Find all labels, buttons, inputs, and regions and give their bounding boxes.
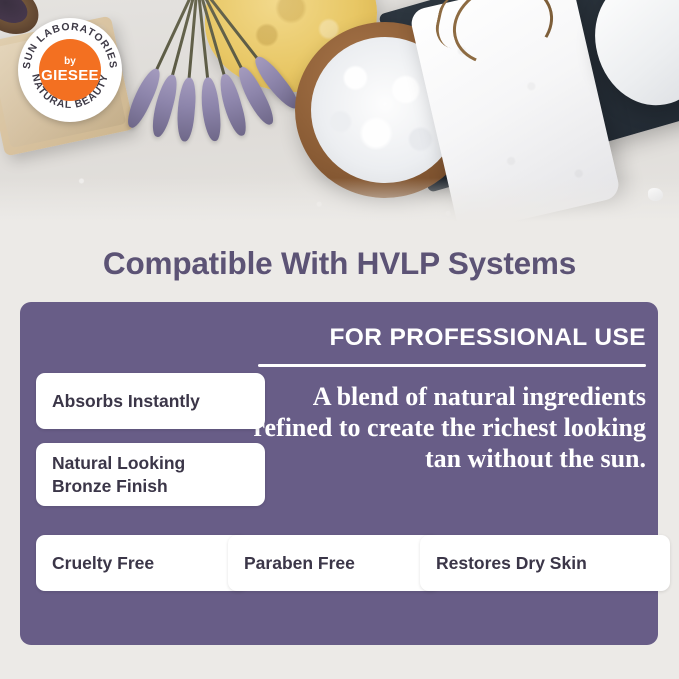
trademark-symbol: ™: [103, 64, 108, 69]
feature-pill-natural-looking-bronze-finish[interactable]: Natural Looking Bronze Finish: [36, 443, 265, 506]
feature-pill-label: Absorbs Instantly: [52, 390, 200, 412]
logo-brand-text: GIESEE: [41, 67, 99, 84]
logo-inner-circle: by GIESEE ™: [39, 39, 101, 101]
feature-pill-label: Cruelty Free: [52, 552, 154, 574]
feature-pill-paraben-free[interactable]: Paraben Free: [228, 535, 440, 591]
feature-pill-absorbs-instantly[interactable]: Absorbs Instantly: [36, 373, 265, 429]
feature-pill-cruelty-free[interactable]: Cruelty Free: [36, 535, 248, 591]
feature-pill-label: Restores Dry Skin: [436, 552, 587, 574]
professional-use-heading: FOR PROFESSIONAL USE: [278, 324, 646, 352]
page-title: Compatible With HVLP Systems: [0, 245, 679, 282]
features-panel: FOR PROFESSIONAL USE A blend of natural …: [20, 302, 658, 645]
photo-fade-overlay: [0, 178, 679, 232]
product-feature-graphic: SUN LABORATORIES • NATURAL BEAUTY • by G…: [0, 0, 679, 679]
heading-divider: [258, 364, 646, 367]
logo-by-label: by: [64, 57, 76, 67]
feature-pill-label: Paraben Free: [244, 552, 355, 574]
logo-brand-name: GIESEE ™: [41, 68, 99, 83]
brand-logo-badge: SUN LABORATORIES • NATURAL BEAUTY • by G…: [18, 18, 122, 122]
lavender-sprigs: [92, 0, 307, 197]
product-description: A blend of natural ingredients refined t…: [250, 382, 646, 475]
feature-pill-label: Natural Looking Bronze Finish: [52, 452, 249, 496]
feature-pill-restores-dry-skin[interactable]: Restores Dry Skin: [420, 535, 670, 591]
